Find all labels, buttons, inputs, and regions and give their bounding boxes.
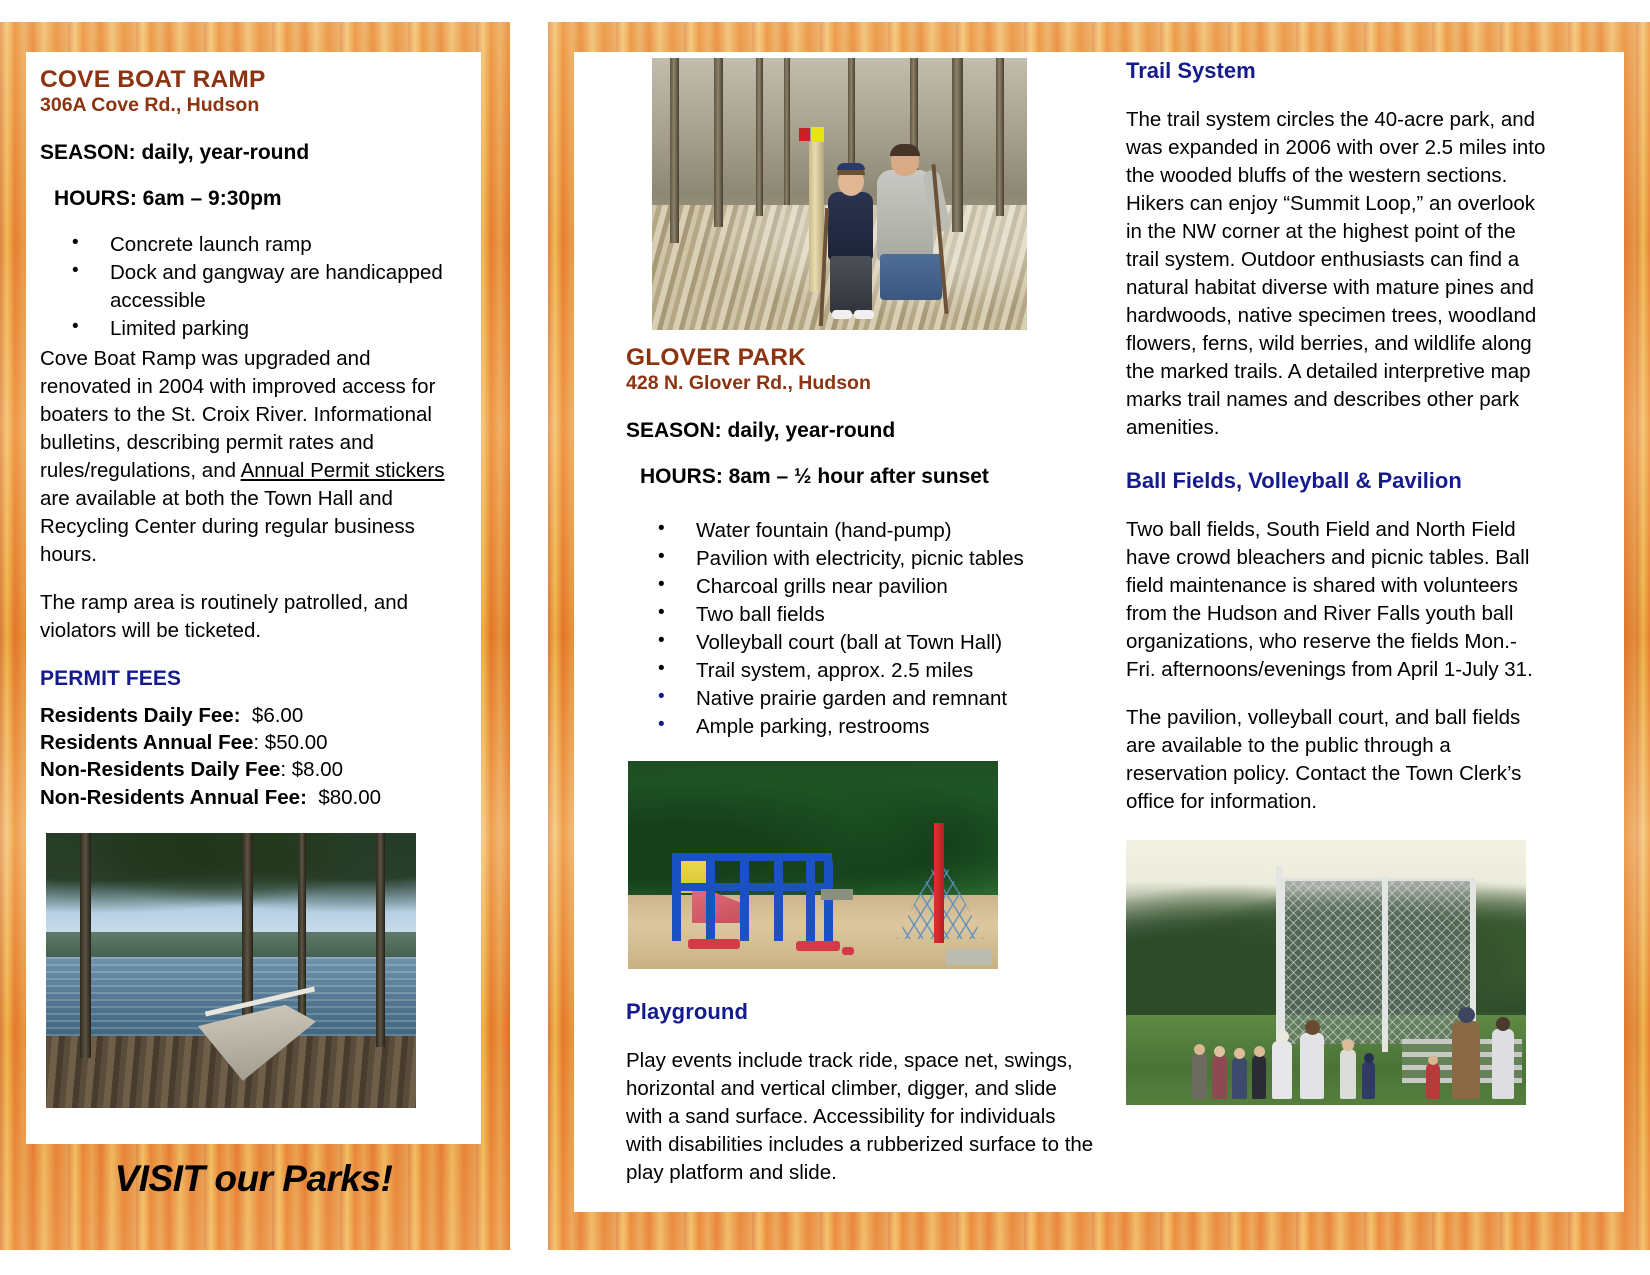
glover-season: SEASON: daily, year-round	[626, 419, 1096, 443]
list-item: Volleyball court (ball at Town Hall)	[626, 629, 1096, 657]
list-item: Two ball fields	[626, 601, 1096, 629]
playground-heading: Playground	[626, 999, 1096, 1025]
fee-label: Residents Annual Fee	[40, 731, 253, 754]
list-item: Pavilion with electricity, picnic tables	[626, 545, 1096, 573]
playground-body: Play events include track ride, space ne…	[626, 1047, 1096, 1187]
glover-hours: HOURS: 8am – ½ hour after sunset	[626, 465, 1096, 489]
permit-fees-heading: PERMIT FEES	[40, 667, 465, 691]
cove-patrol-paragraph: The ramp area is routinely patrolled, an…	[40, 589, 465, 645]
list-item: Concrete launch ramp	[40, 231, 465, 259]
fee-label: Non-Residents Daily Fee	[40, 758, 280, 781]
list-item: Charcoal grills near pavilion	[626, 573, 1096, 601]
cove-description-part2: are available at both the Town Hall and …	[40, 487, 415, 566]
fee-label: Residents Daily Fee:	[40, 704, 241, 727]
glover-park-column: GLOVER PARK 428 N. Glover Rd., Hudson SE…	[626, 58, 1096, 1187]
fee-amount: $80.00	[318, 786, 381, 809]
fee-amount: $6.00	[252, 704, 303, 727]
trail-hikers-photo	[652, 58, 1027, 330]
fee-label: Non-Residents Annual Fee:	[40, 786, 307, 809]
cove-address: 306A Cove Rd., Hudson	[40, 94, 465, 117]
list-item: Ample parking, restrooms	[626, 713, 1096, 741]
left-panel-wood-border: COVE BOAT RAMP 306A Cove Rd., Hudson SEA…	[0, 22, 510, 1250]
right-panel-wood-border: GLOVER PARK 428 N. Glover Rd., Hudson SE…	[548, 22, 1650, 1250]
cove-hours: HOURS: 6am – 9:30pm	[40, 187, 465, 211]
cove-season: SEASON: daily, year-round	[40, 141, 465, 165]
list-item: Limited parking	[40, 315, 465, 343]
cove-feature-list: Concrete launch ramp Dock and gangway ar…	[40, 231, 465, 343]
list-item: Trail system, approx. 2.5 miles	[626, 657, 1096, 685]
list-item: Native prairie garden and remnant	[626, 685, 1096, 713]
fee-amount: : $8.00	[280, 758, 343, 781]
cove-boat-ramp-content: COVE BOAT RAMP 306A Cove Rd., Hudson SEA…	[40, 66, 465, 1108]
ball-field-backstop-crowd-photo	[1126, 840, 1526, 1105]
visit-our-parks-banner: VISIT our Parks!	[26, 1158, 481, 1200]
ball-fields-paragraph-1: Two ball fields, South Field and North F…	[1126, 516, 1546, 684]
trail-system-body: The trail system circles the 40-acre par…	[1126, 106, 1546, 442]
list-item: Dock and gangway are handicapped accessi…	[40, 259, 465, 315]
playground-equipment-photo	[628, 761, 998, 969]
page-title: COVE BOAT RAMP	[40, 66, 465, 93]
fee-row: Non-Residents Daily Fee: $8.00	[40, 756, 465, 783]
fee-amount: : $50.00	[253, 731, 327, 754]
annual-permit-stickers-link[interactable]: Annual Permit stickers	[241, 459, 445, 482]
cove-description-paragraph: Cove Boat Ramp was upgraded and renovate…	[40, 345, 465, 569]
ball-fields-heading: Ball Fields, Volleyball & Pavilion	[1126, 468, 1546, 494]
glover-address: 428 N. Glover Rd., Hudson	[626, 372, 1096, 395]
glover-feature-list: Water fountain (hand-pump) Pavilion with…	[626, 517, 1096, 742]
fee-row: Residents Annual Fee: $50.00	[40, 729, 465, 756]
glover-park-title: GLOVER PARK	[626, 344, 1096, 371]
trail-system-heading: Trail System	[1126, 58, 1546, 84]
permit-fees-list: Residents Daily Fee: $6.00 Residents Ann…	[40, 702, 465, 811]
cove-boat-ramp-card: COVE BOAT RAMP 306A Cove Rd., Hudson SEA…	[26, 52, 481, 1144]
fee-row: Non-Residents Annual Fee: $80.00	[40, 784, 465, 811]
glover-park-card: GLOVER PARK 428 N. Glover Rd., Hudson SE…	[574, 52, 1624, 1212]
cove-boat-ramp-river-photo	[46, 833, 416, 1108]
fee-row: Residents Daily Fee: $6.00	[40, 702, 465, 729]
ball-fields-paragraph-2: The pavilion, volleyball court, and ball…	[1126, 704, 1546, 816]
trail-and-fields-column: Trail System The trail system circles th…	[1126, 58, 1546, 1105]
brochure-page: COVE BOAT RAMP 306A Cove Rd., Hudson SEA…	[0, 0, 1650, 1275]
list-item: Water fountain (hand-pump)	[626, 517, 1096, 545]
